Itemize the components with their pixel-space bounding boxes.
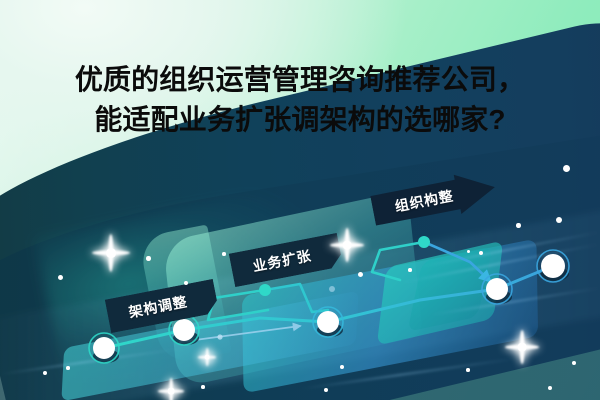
edge-branch-right <box>265 284 328 312</box>
headline-line-1: 优质的组织运营管理咨询推荐公司， <box>0 60 600 100</box>
edge-arrow-to-node4 <box>424 242 490 281</box>
flow-node[interactable] <box>541 254 565 278</box>
flow-node-small[interactable] <box>259 284 271 296</box>
edge-dot <box>217 334 222 339</box>
flow-node[interactable] <box>317 311 339 333</box>
headline-line-2: 能适配业务扩张调架构的选哪家? <box>0 100 600 140</box>
poster-canvas: 组织构整 业务扩张 架构调整 优质的组织运营管理咨询推荐公司， 能适配业务扩张调… <box>0 0 600 400</box>
flow-node[interactable] <box>93 337 115 359</box>
edge-dot <box>329 286 335 292</box>
flow-node[interactable] <box>486 278 508 300</box>
flow-node-small[interactable] <box>418 236 430 248</box>
edge-branch-upper-left <box>372 242 424 280</box>
page-title: 优质的组织运营管理咨询推荐公司， 能适配业务扩张调架构的选哪家? <box>0 60 600 140</box>
flow-node[interactable] <box>173 319 195 341</box>
